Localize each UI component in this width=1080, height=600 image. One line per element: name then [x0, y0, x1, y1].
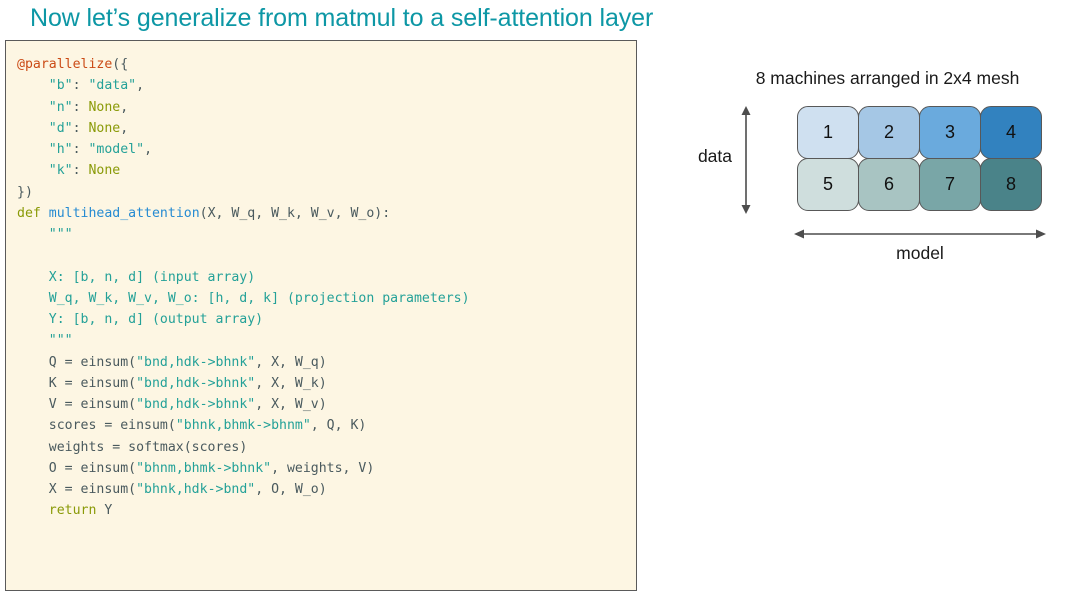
data-axis-label: data — [666, 146, 732, 167]
mesh-cell-6[interactable]: 6 — [858, 158, 920, 211]
mesh-grid: 1 2 3 4 5 6 7 8 — [797, 106, 1041, 210]
code-token-string: "b" — [49, 78, 73, 93]
code-token-function: multihead_attention — [49, 206, 200, 221]
mesh-row: 1 2 3 4 — [797, 106, 1041, 158]
code-token-decorator: @parallelize — [17, 57, 112, 72]
code-token-docstring: """ X: [b, n, d] (input array) W_q, W_k,… — [17, 227, 470, 348]
data-axis-arrow-icon — [737, 106, 755, 214]
code-listing: @parallelize({ "b": "data", "n": None, "… — [6, 41, 636, 532]
mesh-row: 5 6 7 8 — [797, 158, 1041, 210]
mesh-diagram: 8 machines arranged in 2x4 mesh data 1 2… — [700, 58, 1075, 288]
mesh-cell-4[interactable]: 4 — [980, 106, 1042, 159]
mesh-caption: 8 machines arranged in 2x4 mesh — [700, 68, 1075, 89]
page-title: Now let’s generalize from matmul to a se… — [30, 2, 653, 34]
code-block: @parallelize({ "b": "data", "n": None, "… — [5, 40, 637, 591]
mesh-cell-5[interactable]: 5 — [797, 158, 859, 211]
mesh-cell-3[interactable]: 3 — [919, 106, 981, 159]
mesh-cell-1[interactable]: 1 — [797, 106, 859, 159]
code-token-plain: ({ — [112, 57, 128, 72]
model-axis-arrow-icon — [794, 226, 1046, 242]
mesh-cell-7[interactable]: 7 — [919, 158, 981, 211]
code-token-keyword: def — [17, 206, 41, 221]
model-axis-label: model — [794, 243, 1046, 264]
mesh-cell-8[interactable]: 8 — [980, 158, 1042, 211]
mesh-cell-2[interactable]: 2 — [858, 106, 920, 159]
